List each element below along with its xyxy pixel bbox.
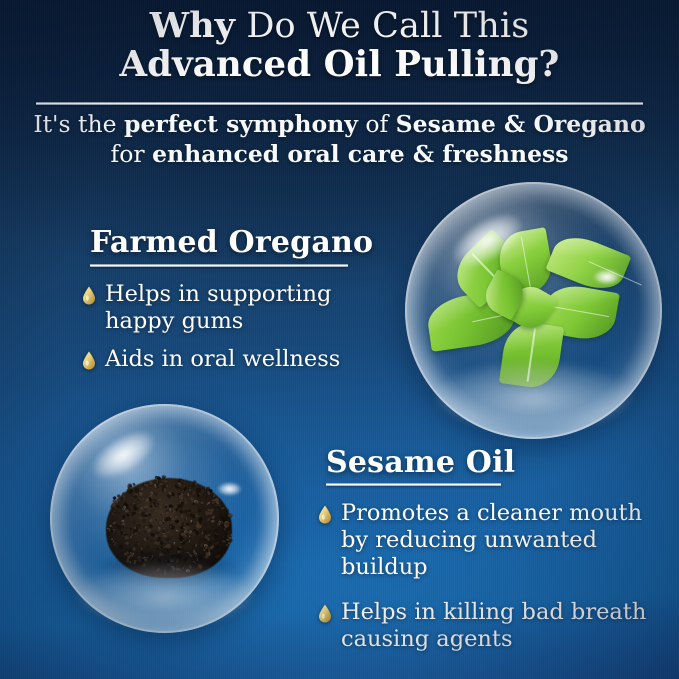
oil-droplet-icon xyxy=(82,351,96,370)
bubble-bottom-glow xyxy=(77,564,251,624)
section-divider-oregano xyxy=(90,264,348,267)
subtitle-text-2: of xyxy=(358,110,396,138)
section-divider-sesame xyxy=(326,483,501,486)
subtitle-emphasis-1: perfect symphony xyxy=(124,110,358,138)
header-divider xyxy=(36,102,643,105)
infographic-canvas: Why Do We Call This Advanced Oil Pulling… xyxy=(0,0,679,679)
page-title-emphasis: Why xyxy=(150,5,235,46)
page-title-rest: Do We Call This xyxy=(235,6,529,46)
list-item-label: Helps in killing bad breath causing agen… xyxy=(341,599,663,653)
section-title-oregano: Farmed Oregano xyxy=(90,225,373,260)
oil-droplet-icon xyxy=(318,505,332,524)
list-item: Aids in oral wellness xyxy=(82,346,372,373)
page-title-line-1: Why Do We Call This xyxy=(0,8,679,44)
subtitle-text-3: for xyxy=(111,140,153,168)
header-block: Why Do We Call This Advanced Oil Pulling… xyxy=(0,8,679,84)
list-item-label: Promotes a cleaner mouth by reducing unw… xyxy=(341,500,663,581)
bubble-bottom-glow xyxy=(436,362,631,429)
subtitle-block: It's the perfect symphony of Sesame & Or… xyxy=(0,110,679,169)
list-item: Promotes a cleaner mouth by reducing unw… xyxy=(318,500,663,581)
subtitle-emphasis-2: Sesame & Oregano xyxy=(396,110,646,138)
bubble-highlight-small xyxy=(593,269,621,284)
page-title-line-2: Advanced Oil Pulling? xyxy=(0,47,679,84)
list-item-label: Helps in supporting happy gums xyxy=(105,281,372,335)
oregano-bubble-image xyxy=(405,182,662,439)
subtitle-line-1: It's the perfect symphony of Sesame & Or… xyxy=(0,110,679,140)
section-title-sesame: Sesame Oil xyxy=(326,445,515,480)
list-item: Helps in killing bad breath causing agen… xyxy=(318,599,663,653)
oil-droplet-icon xyxy=(318,604,332,623)
sesame-bubble-image xyxy=(50,404,279,633)
list-item: Helps in supporting happy gums xyxy=(82,281,372,335)
bubble-highlight-small xyxy=(217,482,242,496)
oil-droplet-icon xyxy=(82,286,96,305)
subtitle-emphasis-3: enhanced oral care & freshness xyxy=(152,140,568,168)
bullet-list-oregano: Helps in supporting happy gums Aids in o… xyxy=(82,281,372,384)
list-item-label: Aids in oral wellness xyxy=(105,346,340,373)
subtitle-line-2: for enhanced oral care & freshness xyxy=(0,140,679,170)
subtitle-text-1: It's the xyxy=(33,110,124,138)
bullet-list-sesame: Promotes a cleaner mouth by reducing unw… xyxy=(318,500,663,671)
